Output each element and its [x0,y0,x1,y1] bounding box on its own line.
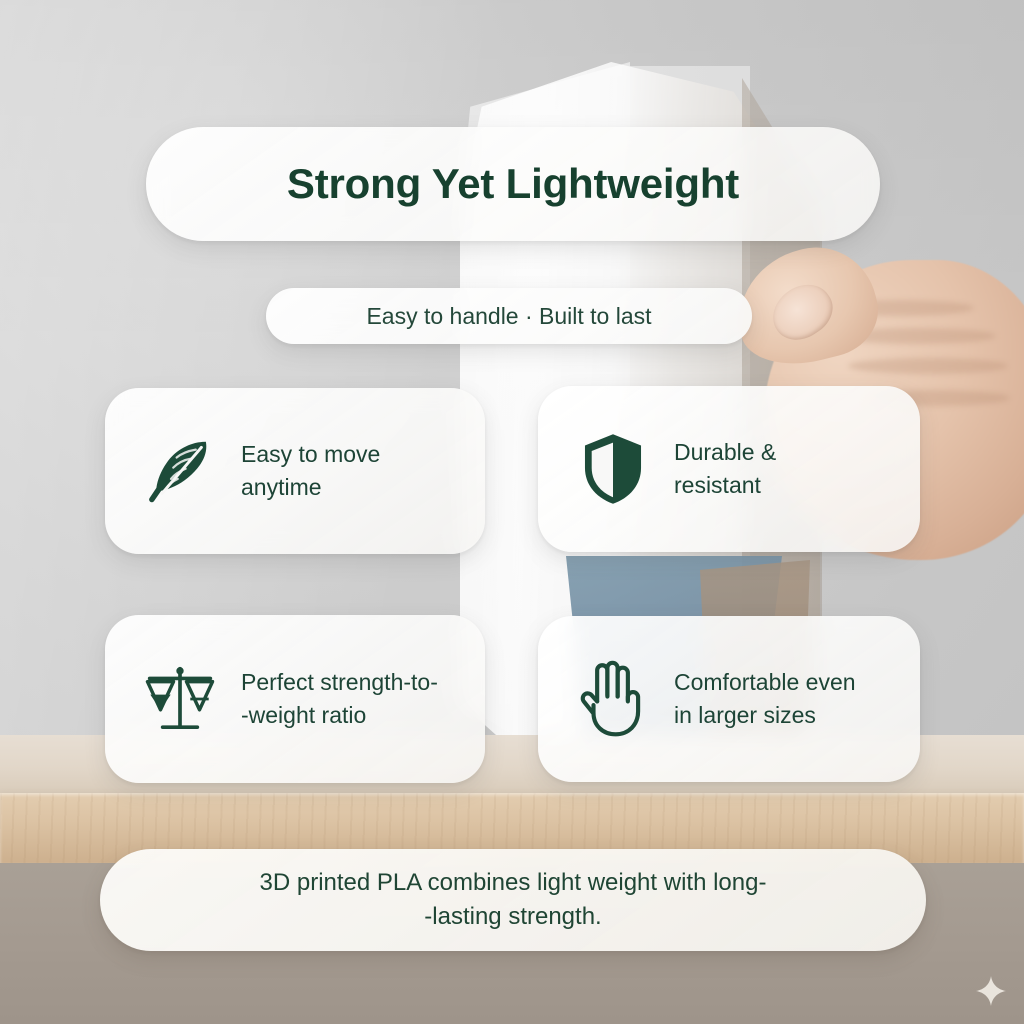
feature-card-label: Durable & resistant [674,436,776,501]
thumb-nail [763,274,842,350]
shield-icon [574,430,652,508]
feature-card-durable[interactable]: Durable & resistant [538,386,920,552]
balance-scale-icon [141,660,219,738]
sparkle-icon [975,975,1007,1007]
feather-icon [141,432,219,510]
title-pill: Strong Yet Lightweight [146,127,880,241]
infographic-canvas: Strong Yet Lightweight Easy to handle · … [0,0,1024,1024]
feature-card-label: Comfortable even in larger sizes [674,666,856,731]
page-title: Strong Yet Lightweight [287,160,739,208]
open-hand-icon [574,660,652,738]
footer-text: 3D printed PLA combines light weight wit… [260,866,767,934]
feature-card-easy-to-move[interactable]: Easy to move anytime [105,388,485,554]
footer-banner: 3D printed PLA combines light weight wit… [100,849,926,951]
subtitle-pill: Easy to handle · Built to last [266,288,752,344]
page-subtitle: Easy to handle · Built to last [366,303,651,330]
feature-card-strength-to-weight[interactable]: Perfect strength-to- -weight ratio [105,615,485,783]
feature-card-label: Easy to move anytime [241,438,380,503]
feature-card-comfortable[interactable]: Comfortable even in larger sizes [538,616,920,782]
feature-card-label: Perfect strength-to- -weight ratio [241,666,438,731]
